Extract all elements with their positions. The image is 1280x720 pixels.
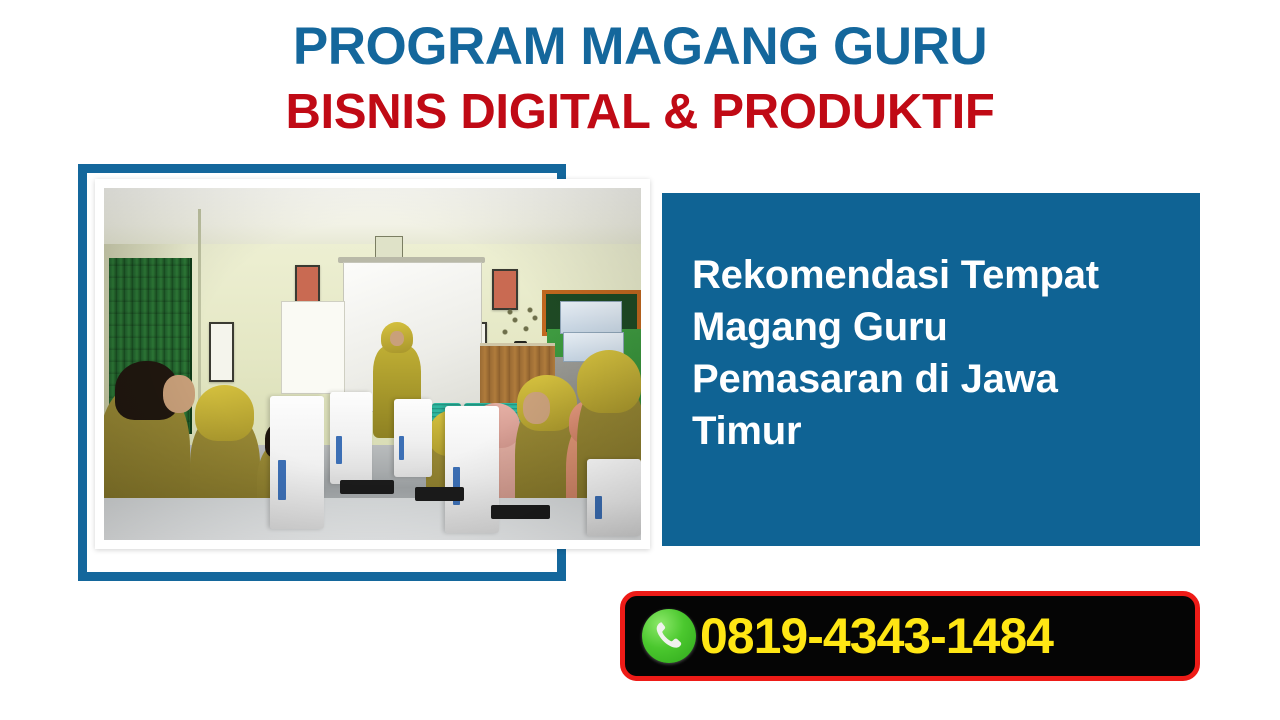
promo-panel-headline: Rekomendasi Tempat Magang Guru Pemasaran… bbox=[692, 249, 1170, 457]
phone-handset-icon bbox=[642, 609, 696, 663]
photo-vignette bbox=[104, 188, 641, 540]
promo-blue-panel: Rekomendasi Tempat Magang Guru Pemasaran… bbox=[662, 193, 1200, 546]
phone-number-text: 0819-4343-1484 bbox=[700, 611, 1053, 661]
photo-card bbox=[95, 179, 650, 549]
headline-block: PROGRAM MAGANG GURU BISNIS DIGITAL & PRO… bbox=[0, 16, 1280, 142]
phone-cta-button[interactable]: 0819-4343-1484 bbox=[620, 591, 1200, 681]
classroom-photo bbox=[104, 188, 641, 540]
headline-secondary: BISNIS DIGITAL & PRODUKTIF bbox=[0, 82, 1280, 142]
headline-primary: PROGRAM MAGANG GURU bbox=[0, 16, 1280, 78]
